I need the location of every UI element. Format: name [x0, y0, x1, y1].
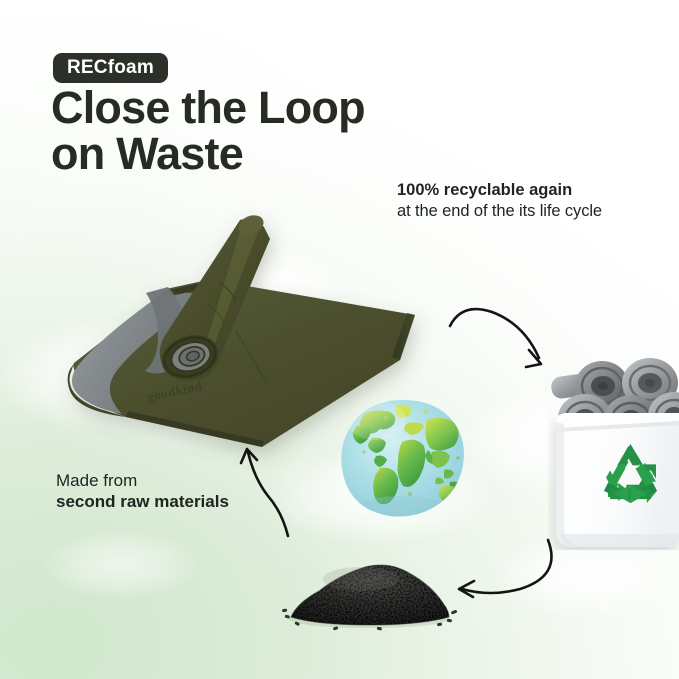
recycling-bin	[548, 358, 679, 550]
recycled-granulate-pile	[281, 549, 457, 631]
annotation-raw-regular: Made from	[56, 470, 286, 491]
annotation-raw-materials: Made from second raw materials	[56, 470, 286, 513]
annotation-recyclable-regular: at the end of the its life cycle	[397, 201, 667, 222]
page-title: Close the Loop on Waste	[51, 85, 471, 177]
poster-canvas: goodkind	[0, 0, 679, 679]
annotation-recyclable: 100% recyclable again at the end of the …	[397, 180, 667, 221]
brand-badge: RECfoam	[53, 53, 168, 83]
headline-line-2: on Waste	[51, 131, 471, 177]
annotation-raw-bold: second raw materials	[56, 491, 286, 512]
earth-globe	[340, 398, 467, 519]
headline-line-1: Close the Loop	[51, 82, 365, 133]
annotation-recyclable-bold: 100% recyclable again	[397, 180, 667, 201]
